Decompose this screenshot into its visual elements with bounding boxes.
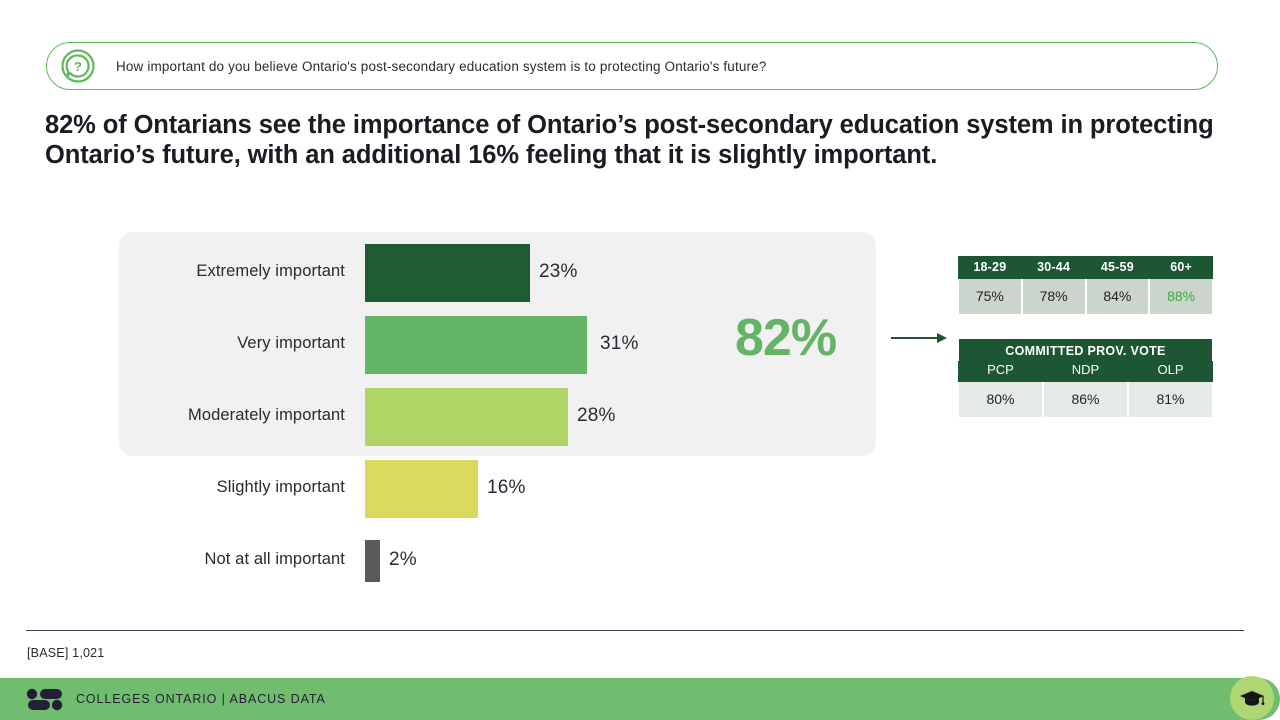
footer-bar: COLLEGES ONTARIO | ABACUS DATA [0, 678, 1280, 720]
bar-label: Very important [0, 334, 345, 353]
graduation-cap-icon [1239, 687, 1265, 709]
age-value-cell-highlighted: 88% [1149, 279, 1213, 314]
base-note: [BASE] 1,021 [27, 646, 104, 660]
question-text: How important do you believe Ontario's p… [116, 59, 766, 74]
table-header-row: PCP NDP OLP [958, 361, 1213, 382]
bar-chart: Extremely important 23% Very important 3… [0, 232, 900, 592]
bar-label: Not at all important [0, 550, 345, 569]
vote-header-cell: NDP [1043, 361, 1128, 382]
bar-value: 31% [600, 333, 639, 355]
vote-value-cell: 80% [958, 382, 1043, 417]
bar-extremely-important [365, 244, 530, 302]
chart-row: Moderately important 28% [0, 388, 900, 446]
question-speech-bubble-icon: ? [61, 49, 95, 83]
footer-divider [26, 630, 1244, 631]
table-row: 80% 86% 81% [958, 382, 1213, 417]
chart-row: Not at all important 2% [0, 532, 900, 590]
table-header-row: 18-29 30-44 45-59 60+ [958, 256, 1213, 279]
graduation-cap-badge [1230, 676, 1274, 720]
vote-table-title: COMMITTED PROV. VOTE [958, 339, 1213, 361]
svg-text:?: ? [74, 59, 82, 74]
age-value-cell: 78% [1022, 279, 1086, 314]
age-header-cell: 18-29 [958, 256, 1022, 279]
bar-value: 2% [389, 549, 417, 571]
bar-value: 28% [577, 405, 616, 427]
age-header-cell: 30-44 [1022, 256, 1086, 279]
headline-text: 82% of Ontarians see the importance of O… [45, 111, 1214, 169]
page-headline: 82% of Ontarians see the importance of O… [45, 110, 1225, 170]
bar-not-at-all-important [365, 540, 380, 582]
age-header-cell: 45-59 [1086, 256, 1150, 279]
bar-slightly-important [365, 460, 478, 518]
age-value-cell: 75% [958, 279, 1022, 314]
bar-value: 23% [539, 261, 578, 283]
chart-row: Slightly important 16% [0, 460, 900, 518]
bar-label: Moderately important [0, 406, 345, 425]
chart-row: Extremely important 23% [0, 244, 900, 302]
table-row: 75% 78% 84% 88% [958, 279, 1213, 314]
vote-value-cell: 86% [1043, 382, 1128, 417]
vote-header-cell: PCP [958, 361, 1043, 382]
bar-very-important [365, 316, 587, 374]
age-value-cell: 84% [1086, 279, 1150, 314]
footer-brand-text: COLLEGES ONTARIO | ABACUS DATA [76, 692, 326, 706]
age-breakdown-table: 18-29 30-44 45-59 60+ 75% 78% 84% 88% [957, 256, 1214, 314]
bar-moderately-important [365, 388, 568, 446]
bar-label: Extremely important [0, 262, 345, 281]
vote-table-title-row: COMMITTED PROV. VOTE [958, 339, 1213, 361]
vote-breakdown-table: COMMITTED PROV. VOTE PCP NDP OLP 80% 86%… [957, 339, 1214, 417]
vote-value-cell: 81% [1128, 382, 1213, 417]
question-banner: ? How important do you believe Ontario's… [46, 42, 1218, 90]
big-stat-82: 82% [735, 308, 836, 368]
bar-value: 16% [487, 477, 526, 499]
dots-dashes-logo-icon [26, 687, 64, 711]
bar-label: Slightly important [0, 478, 345, 497]
arrow-right-icon [891, 330, 947, 346]
age-header-cell: 60+ [1149, 256, 1213, 279]
vote-header-cell: OLP [1128, 361, 1213, 382]
